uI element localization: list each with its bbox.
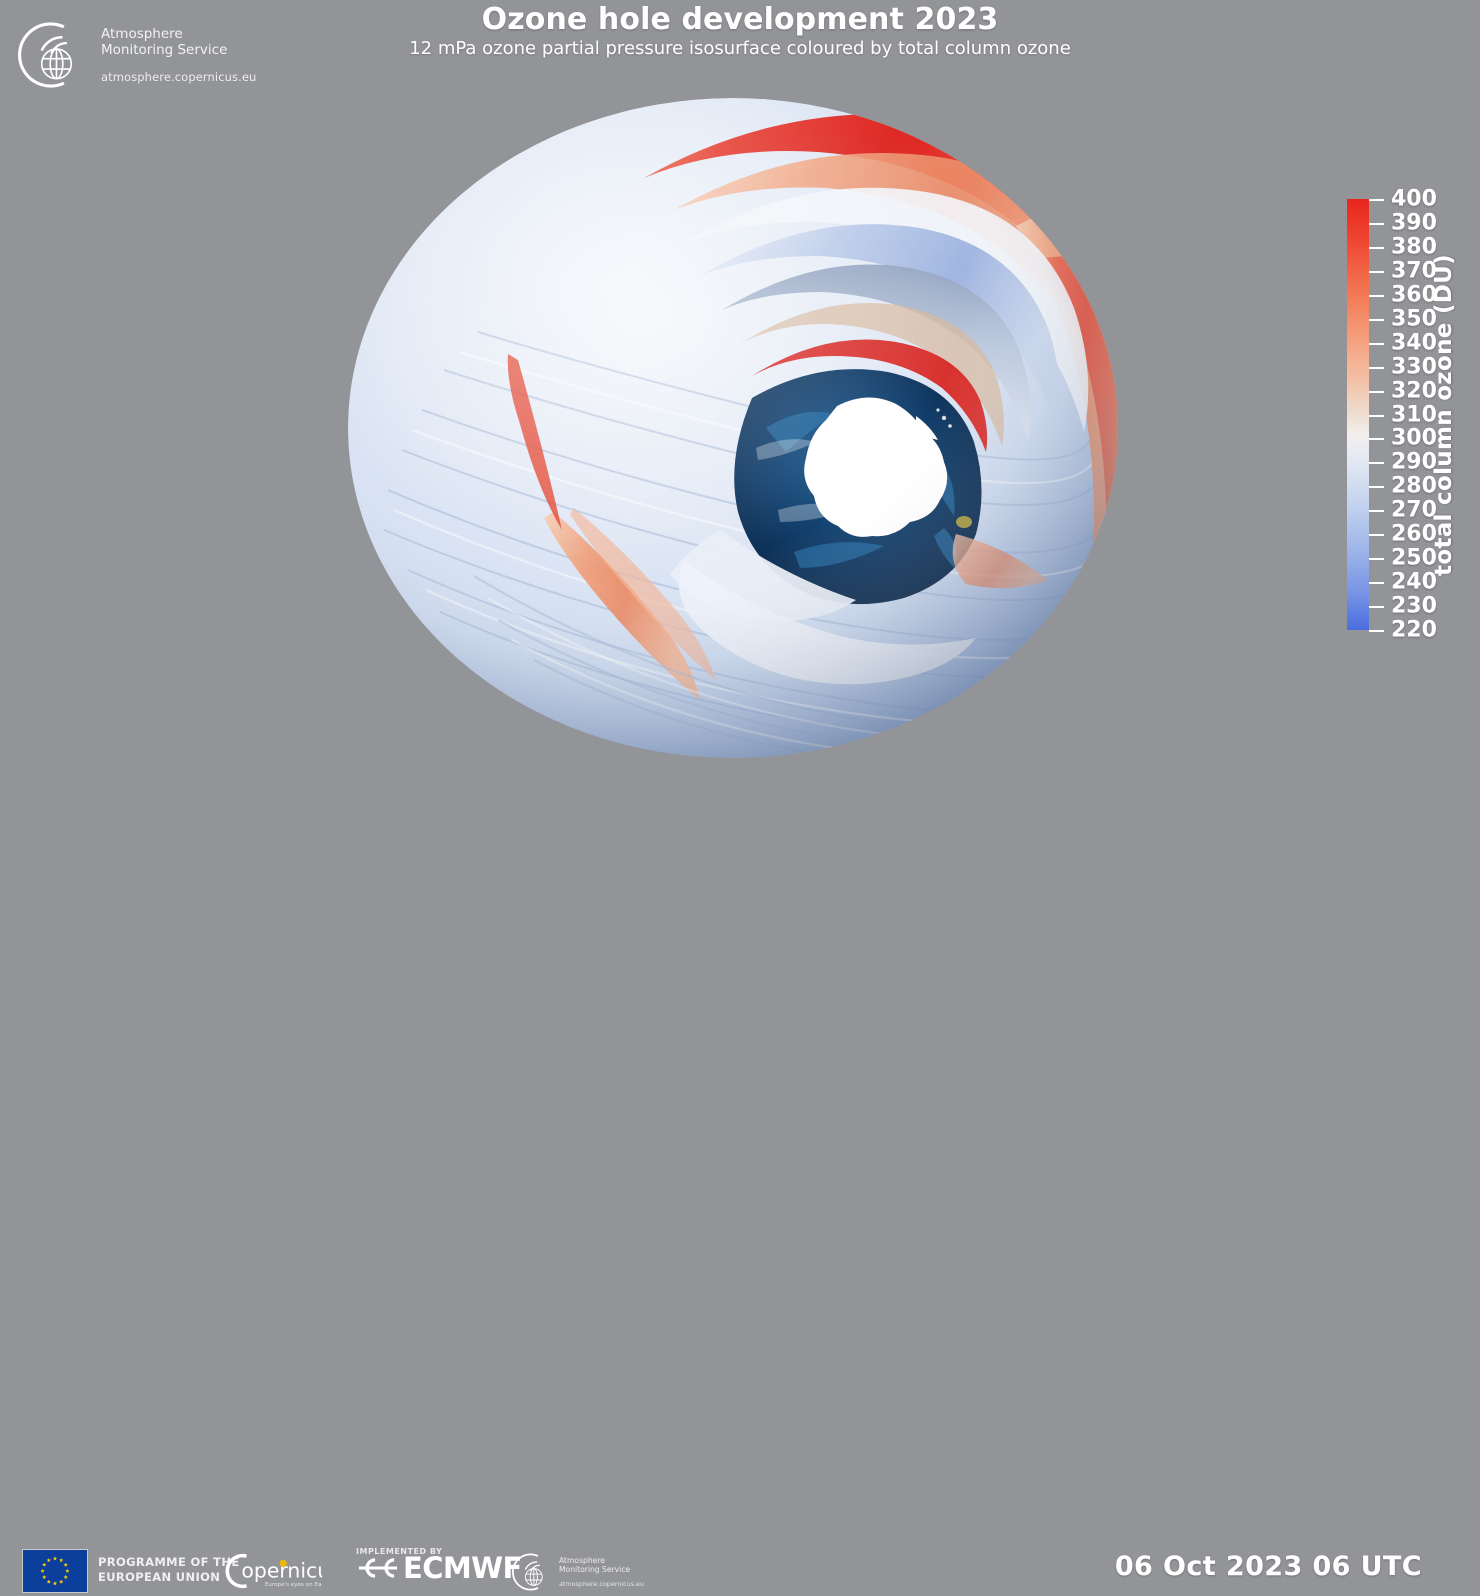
copernicus-mark: opernicus Europe's eyes on Earth xyxy=(220,1552,322,1590)
colorbar-tick xyxy=(1369,343,1384,345)
eu-stars xyxy=(23,1550,87,1592)
cams-footer-url: atmosphere.copernicus.eu xyxy=(559,1581,644,1589)
colorbar xyxy=(1347,199,1369,630)
cams-footer-text: Atmosphere Monitoring Service atmosphere… xyxy=(559,1556,644,1589)
ecmwf-icon xyxy=(356,1555,400,1581)
colorbar-tick xyxy=(1369,199,1384,201)
isosurface-graphic xyxy=(348,60,1128,760)
eu-flag-icon xyxy=(22,1549,88,1593)
footer: PROGRAMME OF THE EUROPEAN UNION opernicu… xyxy=(0,771,1480,833)
eu-programme-text: PROGRAMME OF THE EUROPEAN UNION xyxy=(98,1555,240,1585)
cams-footer-logo: Atmosphere Monitoring Service atmosphere… xyxy=(512,1551,644,1593)
cams-logo: Atmosphere Monitoring Service atmosphere… xyxy=(18,18,256,92)
colorbar-tick xyxy=(1369,415,1384,417)
eu-programme-line1: PROGRAMME OF THE xyxy=(98,1555,240,1570)
colorbar-tick xyxy=(1369,295,1384,297)
colorbar-gradient xyxy=(1347,199,1369,630)
colorbar-tick xyxy=(1369,582,1384,584)
cams-logo-text: Atmosphere Monitoring Service atmosphere… xyxy=(101,26,256,85)
cams-globe-icon xyxy=(18,18,92,92)
timestamp: 06 Oct 2023 06 UTC xyxy=(1115,1551,1422,1582)
colorbar-axis-label: total column ozone (DU) xyxy=(1424,199,1464,630)
ozone-isosurface-render xyxy=(348,60,1128,760)
visualisation-page: Ozone hole development 2023 12 mPa ozone… xyxy=(0,0,1480,833)
cams-logo-url: atmosphere.copernicus.eu xyxy=(101,70,256,84)
colorbar-tick xyxy=(1369,630,1384,632)
ecmwf-logo: ECMWF xyxy=(356,1555,522,1581)
colorbar-tick xyxy=(1369,606,1384,608)
copernicus-logo: opernicus Europe's eyes on Earth xyxy=(220,1552,322,1590)
colorbar-tick xyxy=(1369,247,1384,249)
colorbar-tick xyxy=(1369,534,1384,536)
colorbar-tick xyxy=(1369,462,1384,464)
colorbar-tick xyxy=(1369,367,1384,369)
colorbar-tick xyxy=(1369,271,1384,273)
copernicus-tagline: Europe's eyes on Earth xyxy=(265,1582,322,1588)
cams-logo-line1: Atmosphere xyxy=(101,26,256,42)
colorbar-tick xyxy=(1369,510,1384,512)
colorbar-tick xyxy=(1369,319,1384,321)
cams-footer-line2: Monitoring Service xyxy=(559,1565,644,1574)
colorbar-tick xyxy=(1369,486,1384,488)
colorbar-tick xyxy=(1369,223,1384,225)
eu-programme-line2: EUROPEAN UNION xyxy=(98,1570,240,1585)
colorbar-axis-label-text: total column ozone (DU) xyxy=(1431,254,1457,576)
cams-globe-icon-small xyxy=(512,1551,554,1593)
colorbar-tick xyxy=(1369,438,1384,440)
colorbar-tick xyxy=(1369,558,1384,560)
cams-footer-line1: Atmosphere xyxy=(559,1556,644,1565)
colorbar-tick xyxy=(1369,391,1384,393)
ecmwf-wordmark: ECMWF xyxy=(403,1555,522,1581)
cams-logo-line2: Monitoring Service xyxy=(101,42,256,58)
